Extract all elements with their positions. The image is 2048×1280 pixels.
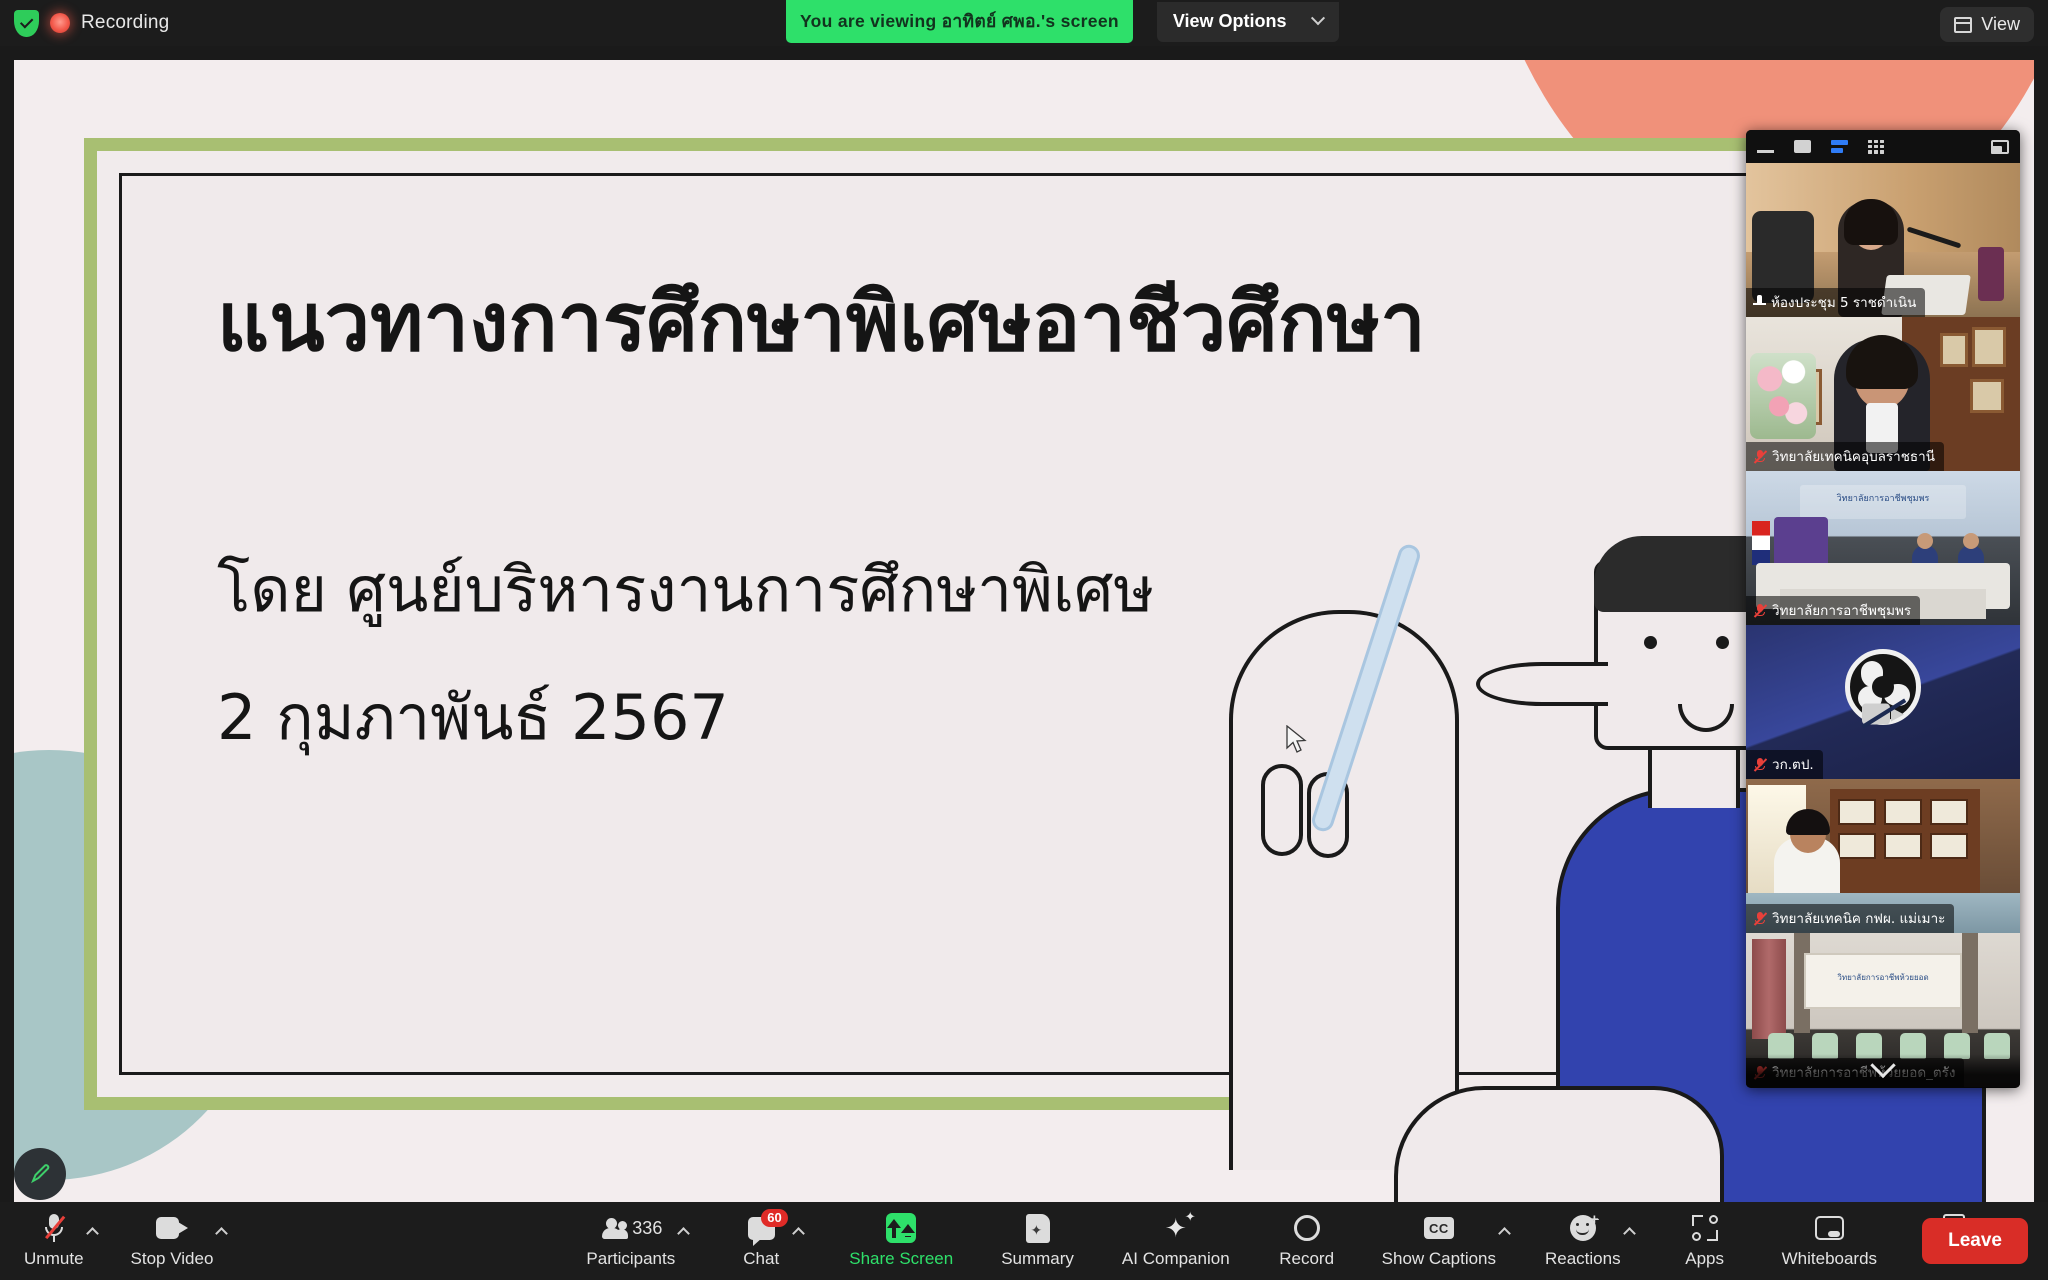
muted-mic-icon [1753,449,1767,464]
muted-mic-icon [1753,603,1767,618]
record-button[interactable]: Record [1278,1213,1336,1269]
record-circle-icon [1294,1215,1320,1241]
recording-status: Recording [0,10,169,37]
illustration-pointer-stick [1309,542,1423,834]
shared-screen-area[interactable]: แนวทางการศึกษาพิเศษอาชีวศึกษา โดย ศูนย์บ… [14,60,2034,1202]
gallery-view-icon[interactable] [1868,140,1884,154]
view-button[interactable]: View [1940,7,2034,42]
summary-button[interactable]: Summary [1001,1213,1074,1269]
chat-button[interactable]: 60 Chat [732,1213,790,1269]
participant-name: วก.ตป. [1772,753,1814,775]
chevron-down-icon [1870,1053,1895,1078]
video-control-group: Stop Video [131,1213,227,1269]
summary-doc-icon [1026,1214,1050,1243]
window-view-icon[interactable] [1794,140,1811,153]
unmute-label: Unmute [24,1249,84,1269]
participants-caret[interactable] [677,1227,690,1240]
tile-label: วก.ตป. [1746,750,1823,779]
participant-name: ห้องประชุม 5 ราชดำเนิน [1771,291,1916,313]
participants-group: 336 Participants [586,1213,688,1269]
participants-count: 336 [632,1218,662,1239]
whiteboards-label: Whiteboards [1782,1249,1877,1269]
participant-filmstrip[interactable]: ห้องประชุม 5 ราชดำเนิน วิทยาลัยเทคนิคอุบ… [1746,130,2020,1088]
video-off-icon [1862,701,1904,728]
chat-label: Chat [743,1249,779,1269]
annotate-button[interactable] [14,1148,66,1200]
meeting-toolbar: Unmute Stop Video 336 Participants 60 [0,1202,2048,1280]
apps-button[interactable]: Apps [1676,1213,1734,1269]
pen-annotate-icon [27,1161,53,1187]
grid-view-icon [1954,17,1972,33]
screen-share-banner-area: You are viewing อาทิตย์ ศพอ.'s screen Vi… [786,0,1339,43]
ai-companion-button[interactable]: ✦ AI Companion [1122,1213,1230,1269]
summary-label: Summary [1001,1249,1074,1269]
share-screen-button[interactable]: Share Screen [849,1213,953,1269]
share-screen-label: Share Screen [849,1249,953,1269]
illustration-finger-1 [1261,764,1303,856]
show-captions-label: Show Captions [1382,1249,1496,1269]
leave-button[interactable]: Leave [1922,1218,2028,1264]
chat-group: 60 Chat [732,1213,803,1269]
ai-sparkle-icon: ✦ [1165,1215,1187,1241]
pin-icon [1753,295,1766,309]
muted-mic-icon [1753,911,1767,926]
whiteboards-button[interactable]: Whiteboards [1782,1213,1877,1269]
apps-label: Apps [1685,1249,1724,1269]
chevron-down-icon [1310,11,1324,25]
reactions-group: + Reactions [1545,1213,1634,1269]
audio-control-group: Unmute [24,1213,97,1269]
tile-label: ห้องประชุม 5 ราชดำเนิน [1746,288,1925,317]
participants-icon [599,1218,627,1239]
illustration-eye-right [1716,636,1729,649]
view-button-label: View [1981,14,2020,35]
unmute-button[interactable]: Unmute [24,1213,84,1269]
slide-title: แนวทางการศึกษาพิเศษอาชีวศึกษา [217,273,1557,374]
participant-name: วิทยาลัยเทคนิค กฟผ. แม่เมาะ [1772,907,1945,929]
tile-label: วิทยาลัยการอาชีพชุมพร [1746,596,1920,625]
chat-unread-badge: 60 [761,1209,787,1228]
slide-subtitle-author: โดย ศูนย์บริหารงานการศึกษาพิเศษ [217,541,1417,639]
recording-dot-icon [50,13,70,33]
muted-microphone-icon [44,1213,64,1243]
popout-icon[interactable] [1991,140,2009,154]
whiteboard-icon [1815,1216,1844,1240]
viewing-banner: You are viewing อาทิตย์ ศพอ.'s screen [786,0,1133,43]
muted-mic-icon [1753,757,1767,772]
top-bar: Recording You are viewing อาทิตย์ ศพอ.'s… [0,0,2048,46]
participant-tile[interactable]: วิทยาลัยเทคนิคอุบลราชธานี [1746,317,2020,471]
view-options-label: View Options [1173,11,1287,32]
stop-video-button[interactable]: Stop Video [131,1213,214,1269]
minimize-icon[interactable] [1757,150,1774,153]
stop-video-label: Stop Video [131,1249,214,1269]
tile-label: วิทยาลัยเทคนิค กฟผ. แม่เมาะ [1746,904,1954,933]
illustration-arm [1229,610,1459,1170]
share-screen-icon [886,1213,916,1243]
participant-tile[interactable]: ห้องประชุม 5 ราชดำเนิน [1746,163,2020,317]
participant-tile[interactable]: วก.ตป. [1746,625,2020,779]
filmstrip-header [1746,130,2020,163]
illustration-eye-left [1644,636,1657,649]
captions-group: CC Show Captions [1382,1213,1509,1269]
participant-tile[interactable]: วิทยาลัยการอาชีพชุมพร วิทยาลัยการอาชีพชุ… [1746,471,2020,625]
video-options-caret[interactable] [216,1227,229,1240]
participants-button[interactable]: 336 Participants [586,1213,675,1269]
reactions-label: Reactions [1545,1249,1621,1269]
speaker-view-icon[interactable] [1831,140,1848,153]
participant-name: วิทยาลัยการอาชีพชุมพร [1772,599,1911,621]
closed-caption-icon: CC [1424,1217,1454,1239]
audio-options-caret[interactable] [86,1227,99,1240]
illustration-second-hand [1394,1086,1724,1202]
reactions-caret[interactable] [1623,1227,1636,1240]
captions-caret[interactable] [1498,1227,1511,1240]
reactions-button[interactable]: + Reactions [1545,1213,1621,1269]
chat-caret[interactable] [792,1227,805,1240]
recording-label: Recording [81,12,169,34]
shield-check-icon [14,10,39,37]
ai-companion-label: AI Companion [1122,1249,1230,1269]
participants-label: Participants [586,1249,675,1269]
filmstrip-scroll-down[interactable] [1746,1054,2020,1088]
reactions-smiley-icon: + [1570,1215,1596,1241]
camera-icon [156,1217,188,1239]
tile-label: วิทยาลัยเทคนิคอุบลราชธานี [1746,442,1944,471]
record-label: Record [1279,1249,1334,1269]
view-options-button[interactable]: View Options [1157,2,1339,42]
apps-icon [1692,1215,1718,1241]
chat-bubble-icon: 60 [748,1217,775,1240]
show-captions-button[interactable]: CC Show Captions [1382,1213,1496,1269]
illustration-nose [1476,662,1608,706]
participant-tile[interactable]: วิทยาลัยเทคนิค กฟผ. แม่เมาะ [1746,779,2020,933]
participant-name: วิทยาลัยเทคนิคอุบลราชธานี [1772,445,1935,467]
